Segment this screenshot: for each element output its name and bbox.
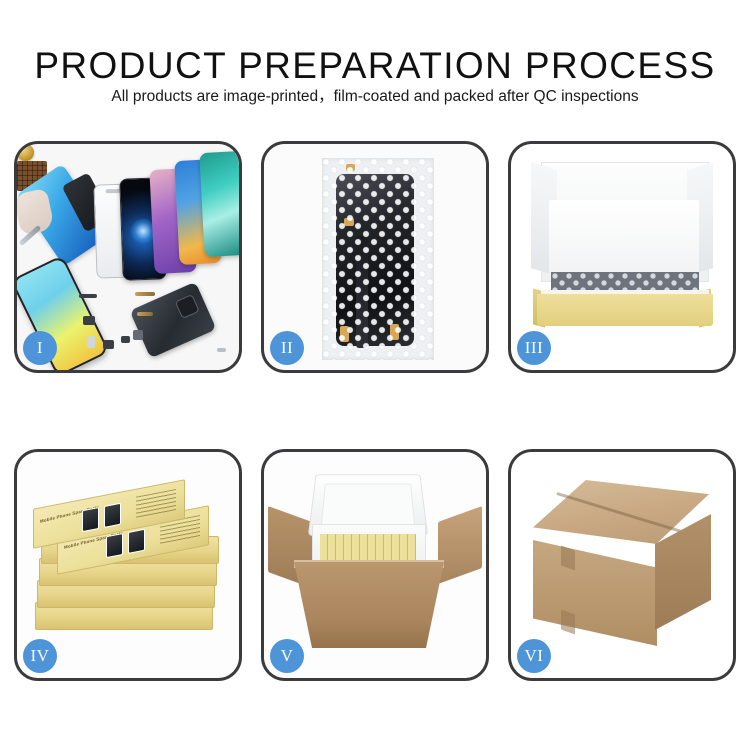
step-panel-1[interactable]: I <box>14 141 242 373</box>
carton-body <box>294 562 444 648</box>
page-title: PRODUCT PREPARATION PROCESS <box>0 47 750 84</box>
step-badge-3: III <box>517 331 551 365</box>
box-base-front <box>537 294 713 326</box>
step-panel-3[interactable]: III <box>508 141 736 373</box>
small-part-d <box>103 340 114 349</box>
retail-box-stack: Mobile Phone Spare Parts Mobile Phone Sp… <box>27 476 233 658</box>
carton-flap-right <box>438 506 482 584</box>
box-screen-image-2 <box>128 529 145 554</box>
box-spec-text-block-2 <box>136 489 176 519</box>
page-subtitle: All products are image-printed，film-coat… <box>0 88 750 107</box>
step-badge-2: II <box>270 331 304 365</box>
box-screen-image-3 <box>82 507 99 532</box>
step-panel-2[interactable]: II <box>261 141 489 373</box>
small-part-f <box>133 330 143 340</box>
carton-front-face <box>533 540 657 646</box>
bubble-wrap-bag <box>322 158 434 360</box>
box-screen-image-1 <box>106 533 123 558</box>
screw-part <box>217 348 226 352</box>
step-panel-4[interactable]: Mobile Phone Spare Parts Mobile Phone Sp… <box>14 449 242 681</box>
step-badge-6: VI <box>517 639 551 673</box>
process-steps-grid: I II <box>14 141 736 681</box>
foam-sheet <box>549 200 699 274</box>
carton-tape-lower <box>561 609 575 634</box>
step-badge-5: V <box>270 639 304 673</box>
box-screen-image-4 <box>104 503 121 528</box>
speaker-coil-part <box>17 144 34 161</box>
step-badge-4: IV <box>23 639 57 673</box>
bubble-wrap-texture <box>322 158 434 360</box>
small-part-e <box>121 336 130 343</box>
flex-cable-b <box>137 312 153 316</box>
product-preparation-infographic: PRODUCT PREPARATION PROCESS All products… <box>0 0 750 750</box>
small-part-c <box>87 336 95 348</box>
small-part-a <box>79 294 97 298</box>
small-part-b <box>83 316 95 325</box>
step-panel-5[interactable]: V <box>261 449 489 681</box>
flex-cable-a <box>135 292 155 296</box>
step-panel-6[interactable]: VI <box>508 449 736 681</box>
phone-teal <box>199 151 239 257</box>
step-badge-1: I <box>23 331 57 365</box>
